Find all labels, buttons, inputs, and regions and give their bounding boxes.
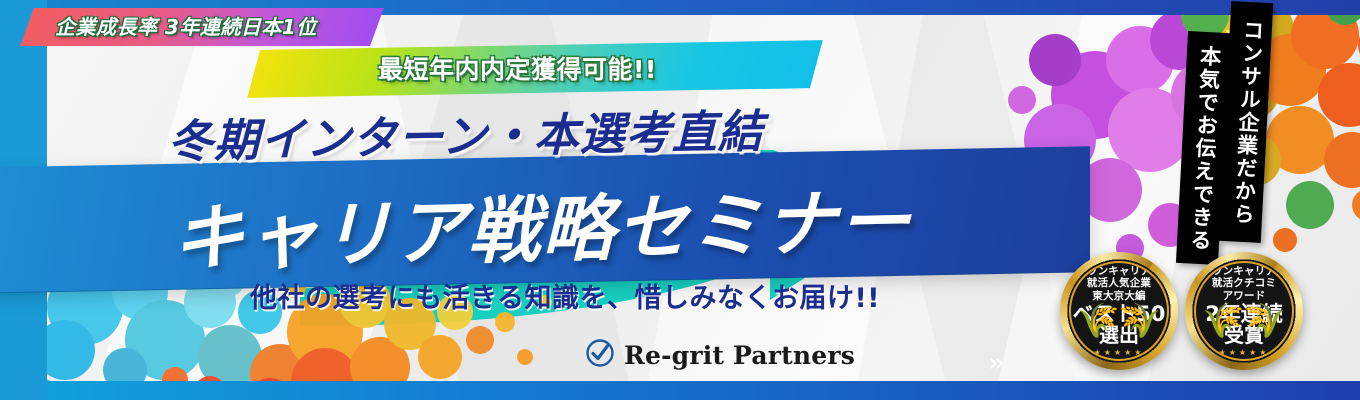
award-medal-2years: 🌾 🌾 ワンキャリア 就活クチコミ アワード 2年連続 受賞 ★★★★★ <box>1185 252 1303 370</box>
laurel-icon: 🌾 <box>1244 301 1286 341</box>
medal-line2: 就活人気企業 <box>1087 277 1151 290</box>
medal-line1: ワンキャリア <box>1087 265 1151 278</box>
chevron-right-icon: » <box>988 348 1001 378</box>
medal-line2: 就活クチコミ <box>1212 277 1276 290</box>
medal-stars: ★★★★★ <box>1094 348 1145 357</box>
company-name: Re-grit Partners <box>624 341 855 370</box>
page-title: キャリア戦略セミナー <box>172 163 912 285</box>
laurel-icon: 🌾 <box>1077 301 1119 341</box>
company-logo: Re-grit Partners <box>585 338 855 372</box>
medal-line1: ワンキャリア <box>1212 265 1276 278</box>
medal-inner: 🌾 🌾 ワンキャリア 就活人気企業 東大京大編 ベスト50 選出 ★★★★★ <box>1069 261 1169 361</box>
check-circle-icon <box>585 338 615 372</box>
laurel-icon: 🌾 <box>1119 301 1161 341</box>
headline-text: 冬期インターン・本選考直結 <box>168 95 764 170</box>
bottom-accent-strip <box>0 381 1360 400</box>
promotional-banner: 企業成長率 3年連続日本1位 最短年内内定獲得可能!! 冬期インターン・本選考直… <box>0 0 1360 400</box>
growth-rate-label: 企業成長率 3年連続日本1位 <box>55 10 375 44</box>
award-medal-best50: 🌾 🌾 ワンキャリア 就活人気企業 東大京大編 ベスト50 選出 ★★★★★ <box>1060 252 1178 370</box>
laurel-icon: 🌾 <box>1202 301 1244 341</box>
subtitle-text: 他社の選考にも活きる知識を、惜しみなくお届け!! <box>250 276 880 315</box>
medal-inner: 🌾 🌾 ワンキャリア 就活クチコミ アワード 2年連続 受賞 ★★★★★ <box>1194 261 1294 361</box>
medal-stars: ★★★★★ <box>1219 348 1270 357</box>
offer-label: 最短年内内定獲得可能!! <box>378 52 818 88</box>
